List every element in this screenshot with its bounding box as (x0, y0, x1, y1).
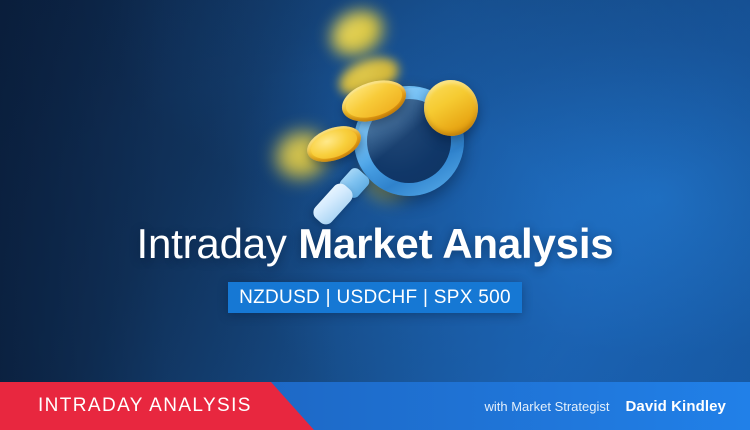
page-title-thin: Intraday (137, 220, 299, 267)
credit-prefix: with Market Strategist (485, 399, 610, 414)
instruments-badge-label: NZDUSD | USDCHF | SPX 500 (239, 287, 511, 309)
credit-name: David Kindley (626, 398, 727, 415)
magnifying-glass-coins-illustration (0, 0, 750, 430)
bottom-bar: INTRADAY ANALYSIS with Market Strategist… (0, 382, 750, 430)
coin-top-blurred-icon (323, 2, 390, 64)
category-label: INTRADAY ANALYSIS (38, 382, 252, 430)
intraday-market-analysis-banner: Intraday Market Analysis NZDUSD | USDCHF… (0, 0, 750, 430)
page-title: Intraday Market Analysis (0, 218, 750, 270)
credit-block: with Market Strategist David Kindley (485, 382, 727, 430)
instruments-badge: NZDUSD | USDCHF | SPX 500 (228, 282, 522, 313)
page-title-bold: Market Analysis (298, 220, 613, 267)
